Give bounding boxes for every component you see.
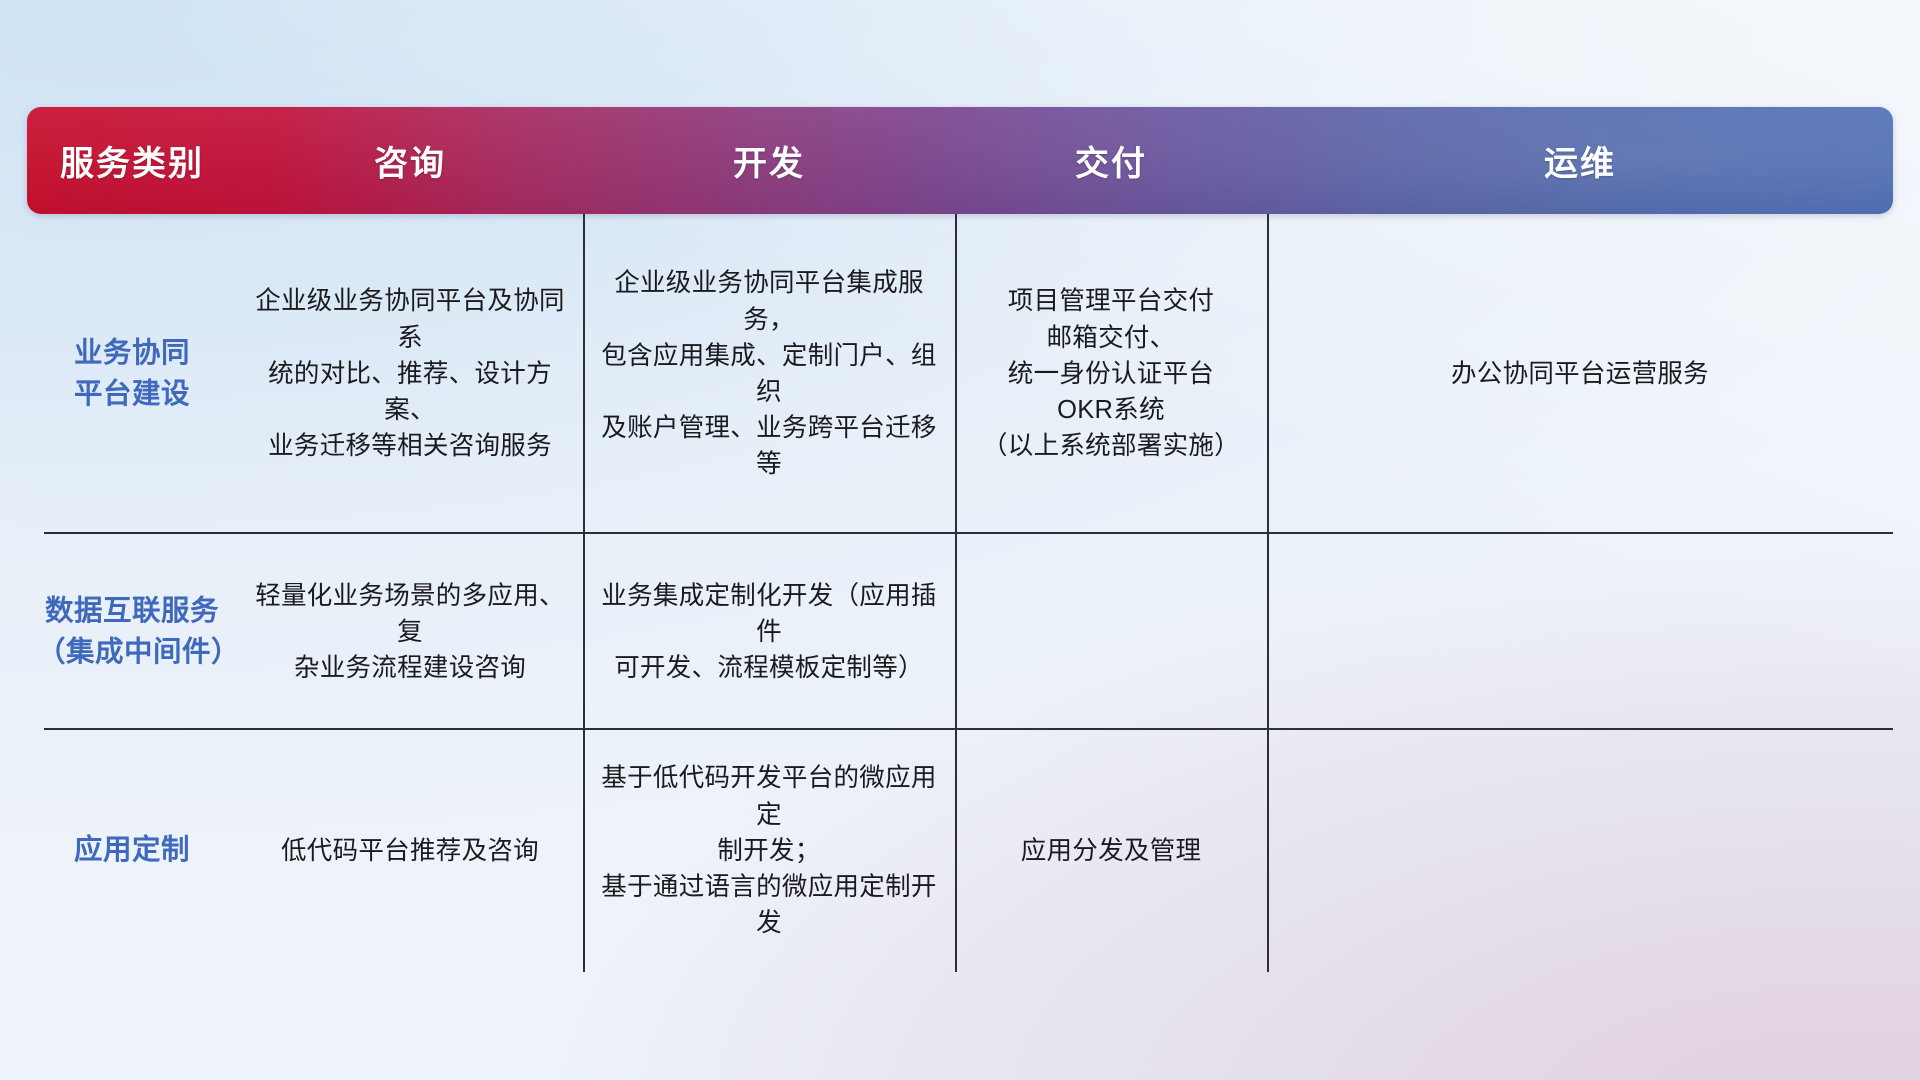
cell-development-row3: 基于低代码开发平台的微应用定 制开发； 基于通过语言的微应用定制开发: [583, 730, 955, 972]
table-row: 数据互联服务 （集成中间件） 轻量化业务场景的多应用、复 杂业务流程建设咨询 业…: [27, 534, 1893, 730]
grid-line-vertical: [583, 534, 585, 730]
cell-delivery-row2: [955, 534, 1267, 730]
column-header-development: 开发: [583, 107, 955, 214]
table-body: 业务协同 平台建设 企业级业务协同平台及协同系 统的对比、推荐、设计方案、 业务…: [27, 214, 1893, 972]
cell-consulting-row3: 低代码平台推荐及咨询: [237, 730, 583, 972]
grid-line-vertical: [1267, 730, 1269, 972]
column-header-category: 服务类别: [27, 107, 237, 214]
row-label-business-collaboration-platform: 业务协同 平台建设: [27, 214, 237, 534]
grid-line-vertical: [955, 214, 957, 534]
cell-delivery-row1: 项目管理平台交付 邮箱交付、 统一身份认证平台 OKR系统 （以上系统部署实施）: [955, 214, 1267, 534]
column-header-consulting: 咨询: [237, 107, 583, 214]
column-header-delivery: 交付: [955, 107, 1267, 214]
row-label-data-interconnect-service: 数据互联服务 （集成中间件）: [27, 534, 237, 730]
cell-delivery-row3: 应用分发及管理: [955, 730, 1267, 972]
grid-line-vertical: [583, 730, 585, 972]
cell-operations-row2: [1267, 534, 1893, 730]
table-header-row: 服务类别 咨询 开发 交付 运维: [27, 107, 1893, 214]
table-row: 业务协同 平台建设 企业级业务协同平台及协同系 统的对比、推荐、设计方案、 业务…: [27, 214, 1893, 534]
cell-consulting-row1: 企业级业务协同平台及协同系 统的对比、推荐、设计方案、 业务迁移等相关咨询服务: [237, 214, 583, 534]
grid-line-vertical: [1267, 214, 1269, 534]
service-category-table: 服务类别 咨询 开发 交付 运维 业务协同 平台建设 企业级业务协同平台及协同系…: [27, 107, 1893, 972]
cell-development-row1: 企业级业务协同平台集成服务， 包含应用集成、定制门户、组织 及账户管理、业务跨平…: [583, 214, 955, 534]
grid-line-vertical: [583, 214, 585, 534]
cell-consulting-row2: 轻量化业务场景的多应用、复 杂业务流程建设咨询: [237, 534, 583, 730]
cell-development-row2: 业务集成定制化开发（应用插件 可开发、流程模板定制等）: [583, 534, 955, 730]
column-header-operations: 运维: [1267, 107, 1893, 214]
cell-operations-row3: [1267, 730, 1893, 972]
table-row: 应用定制 低代码平台推荐及咨询 基于低代码开发平台的微应用定 制开发； 基于通过…: [27, 730, 1893, 972]
grid-line-vertical: [1267, 534, 1269, 730]
grid-line-vertical: [955, 534, 957, 730]
cell-operations-row1: 办公协同平台运营服务: [1267, 214, 1893, 534]
row-label-application-customization: 应用定制: [27, 730, 237, 972]
grid-line-vertical: [955, 730, 957, 972]
